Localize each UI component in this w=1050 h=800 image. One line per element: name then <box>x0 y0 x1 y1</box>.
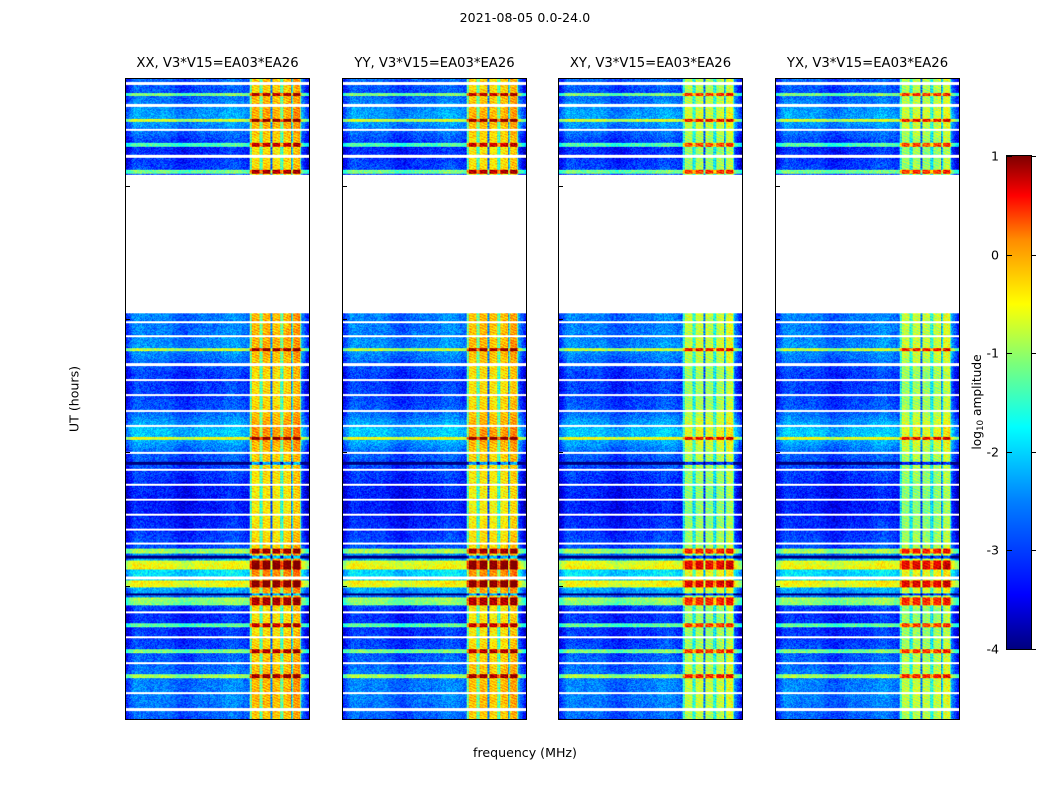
colorbar-tick-mark <box>1031 649 1036 650</box>
y-tick-mark-inner <box>126 719 130 720</box>
y-tick-mark-inner <box>559 719 563 720</box>
x-tick-mark <box>515 719 516 720</box>
y-tick-mark <box>342 719 343 720</box>
x-tick-mark <box>731 719 732 720</box>
colorbar-tick-mark <box>1031 452 1036 453</box>
y-tick-mark <box>125 719 126 720</box>
y-tick-mark <box>558 719 559 720</box>
colorbar-label-base: log <box>970 431 984 450</box>
panel-title-xx: XX, V3*V15=EA03*EA26 <box>136 56 298 71</box>
panel-title-xy: XY, V3*V15=EA03*EA26 <box>570 56 731 71</box>
x-tick-mark <box>473 719 474 720</box>
colorbar-tick-mark <box>1031 156 1036 157</box>
figure-suptitle: 2021-08-05 0.0-24.0 <box>0 10 1050 25</box>
y-tick-mark-inner <box>559 186 563 187</box>
panel-xy[interactable]: XY, V3*V15=EA03*EA26 0510152032033535036… <box>558 78 743 720</box>
y-tick-mark-inner <box>776 319 780 320</box>
y-tick-mark-inner <box>559 452 563 453</box>
x-tick-mark <box>349 719 350 720</box>
colorbar-tick-mark-inner <box>1007 649 1012 650</box>
y-tick-mark-inner <box>126 319 130 320</box>
colorbar-label-sub: 10 <box>976 420 986 431</box>
x-tick-mark <box>648 719 649 720</box>
panel-title-yy: YY, V3*V15=EA03*EA26 <box>354 56 514 71</box>
panel-title-yx: YX, V3*V15=EA03*EA26 <box>787 56 948 71</box>
figure-canvas: 2021-08-05 0.0-24.0 XX, V3*V15=EA03*EA26… <box>0 0 1050 800</box>
x-tick-mark <box>565 719 566 720</box>
colorbar-tick-mark-inner <box>1007 255 1012 256</box>
x-tick-mark <box>606 719 607 720</box>
y-tick-mark-inner <box>343 586 347 587</box>
x-tick-mark <box>298 719 299 720</box>
colorbar-tick-mark-inner <box>1007 550 1012 551</box>
dynamic-spectrum-image <box>776 79 959 719</box>
y-tick-mark-inner <box>776 452 780 453</box>
panel-xx[interactable]: XX, V3*V15=EA03*EA26 0510152032033535036… <box>125 78 310 720</box>
y-tick-mark <box>775 719 776 720</box>
dynamic-spectrum-image <box>559 79 742 719</box>
y-tick-mark-inner <box>776 186 780 187</box>
y-tick-mark-inner <box>343 319 347 320</box>
colorbar-tick-mark <box>1031 255 1036 256</box>
x-tick-mark <box>432 719 433 720</box>
axes-xx[interactable]: 05101520320335350365380 <box>125 78 310 720</box>
panel-yy[interactable]: YY, V3*V15=EA03*EA26 0510152032033535036… <box>342 78 527 720</box>
colorbar-tick-label: 0 <box>991 247 999 262</box>
colorbar-tick-label: -1 <box>986 346 999 361</box>
y-tick-mark-inner <box>559 319 563 320</box>
y-tick-mark-inner <box>343 719 347 720</box>
colorbar[interactable]: -4-3-2-101 <box>1006 155 1032 650</box>
colorbar-tick-label: -4 <box>986 642 999 657</box>
x-tick-mark <box>689 719 690 720</box>
axes-yy[interactable]: 05101520320335350365380 <box>342 78 527 720</box>
x-axis-label: frequency (MHz) <box>0 745 1050 760</box>
x-tick-mark <box>256 719 257 720</box>
axes-yx[interactable]: 05101520320335350365380 <box>775 78 960 720</box>
colorbar-label: log10 amplitude <box>970 354 986 449</box>
y-tick-mark-inner <box>776 719 780 720</box>
y-tick-mark-inner <box>343 186 347 187</box>
y-axis-label: UT (hours) <box>67 366 82 432</box>
x-tick-mark <box>215 719 216 720</box>
dynamic-spectrum-image <box>126 79 309 719</box>
colorbar-tick-label: -2 <box>986 444 999 459</box>
y-tick-mark-inner <box>126 452 130 453</box>
dynamic-spectrum-image <box>343 79 526 719</box>
colorbar-tick-label: -3 <box>986 543 999 558</box>
panel-yx[interactable]: YX, V3*V15=EA03*EA26 0510152032033535036… <box>775 78 960 720</box>
x-tick-mark <box>823 719 824 720</box>
x-tick-mark <box>948 719 949 720</box>
colorbar-label-tail: amplitude <box>970 354 984 419</box>
y-tick-mark-inner <box>776 586 780 587</box>
x-tick-mark <box>132 719 133 720</box>
x-tick-mark <box>173 719 174 720</box>
y-tick-mark-inner <box>559 586 563 587</box>
x-tick-mark <box>906 719 907 720</box>
colorbar-tick-mark-inner <box>1007 452 1012 453</box>
colorbar-tick-mark-inner <box>1007 156 1012 157</box>
y-tick-mark-inner <box>343 452 347 453</box>
axes-xy[interactable]: 05101520320335350365380 <box>558 78 743 720</box>
x-tick-mark <box>390 719 391 720</box>
colorbar-tick-mark <box>1031 353 1036 354</box>
colorbar-tick-mark <box>1031 550 1036 551</box>
x-tick-mark <box>865 719 866 720</box>
x-tick-mark <box>782 719 783 720</box>
colorbar-tick-mark-inner <box>1007 353 1012 354</box>
colorbar-tick-label: 1 <box>991 149 999 164</box>
y-tick-mark-inner <box>126 586 130 587</box>
y-tick-mark-inner <box>126 186 130 187</box>
